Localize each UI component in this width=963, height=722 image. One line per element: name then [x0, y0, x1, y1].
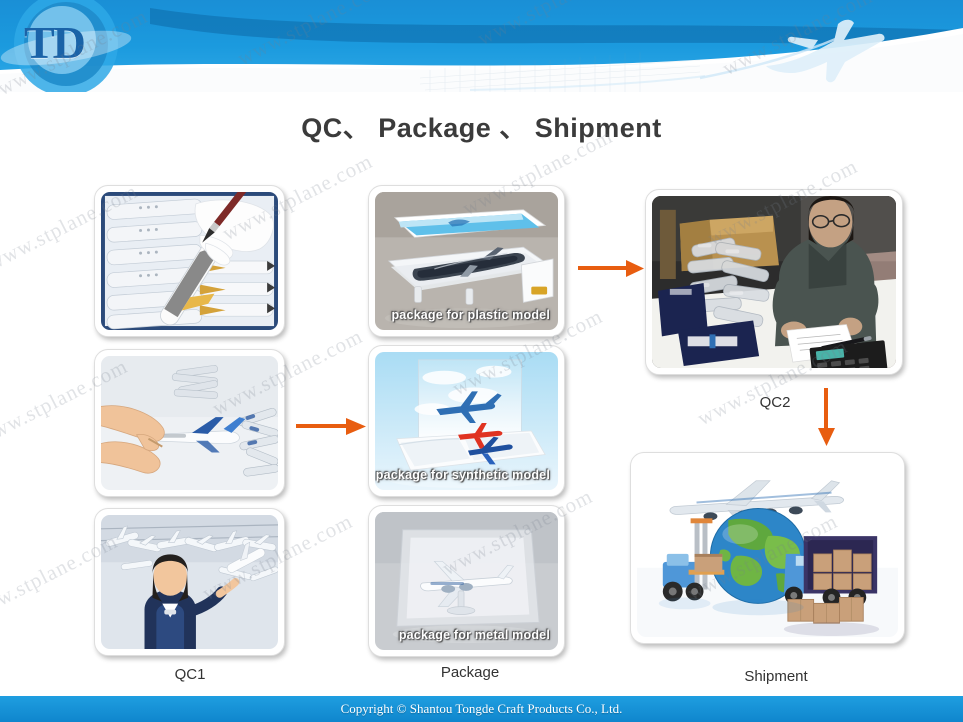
photo-frame: [652, 196, 896, 368]
arrow-qc2-to-shipment: [810, 388, 844, 450]
group-label-package: Package: [400, 664, 540, 681]
slide-root: TD QC、 Package 、 Shipment: [0, 0, 963, 722]
arrow-package-to-qc2: [578, 252, 648, 286]
page-title: QC、 Package 、 Shipment: [0, 106, 963, 145]
photo-qc2-desk: [652, 196, 896, 368]
photo-frame: package for synthetic model: [375, 352, 558, 490]
photo-frame: [101, 192, 278, 330]
copyright-text: Copyright © Shantou Tongde Craft Product…: [341, 701, 623, 717]
photo-frame: [637, 459, 898, 637]
photo-qc-line: [101, 515, 278, 649]
group-label-shipment: Shipment: [706, 668, 846, 685]
photo-qc-paint: [101, 192, 278, 330]
photo-card-qc-assemble[interactable]: [94, 349, 285, 497]
photo-card-pkg-metal[interactable]: package for metal model: [368, 505, 565, 657]
header-banner: TD: [0, 0, 963, 92]
photo-card-shipment[interactable]: [630, 452, 905, 644]
group-label-qc1: QC1: [120, 666, 260, 683]
photo-card-qc-paint[interactable]: [94, 185, 285, 337]
header-graphic: [0, 0, 963, 92]
photo-caption: package for metal model: [399, 628, 550, 642]
photo-card-qc-line[interactable]: [94, 508, 285, 656]
photo-shipment-logistics: [637, 459, 898, 637]
photo-frame: package for plastic model: [375, 192, 558, 330]
photo-card-pkg-synthetic[interactable]: package for synthetic model: [368, 345, 565, 497]
photo-frame: [101, 356, 278, 490]
photo-card-pkg-plastic[interactable]: package for plastic model: [368, 185, 565, 337]
photo-frame: [101, 515, 278, 649]
photo-frame: package for metal model: [375, 512, 558, 650]
photo-caption: package for plastic model: [391, 308, 550, 322]
arrow-qc1-to-package: [296, 410, 370, 444]
logo-text: TD: [24, 16, 84, 69]
photo-card-qc2-desk[interactable]: [645, 189, 903, 375]
photo-caption: package for synthetic model: [376, 468, 550, 482]
company-logo[interactable]: TD: [6, 2, 138, 90]
photo-qc-assemble: [101, 356, 278, 490]
footer-bar: Copyright © Shantou Tongde Craft Product…: [0, 696, 963, 722]
